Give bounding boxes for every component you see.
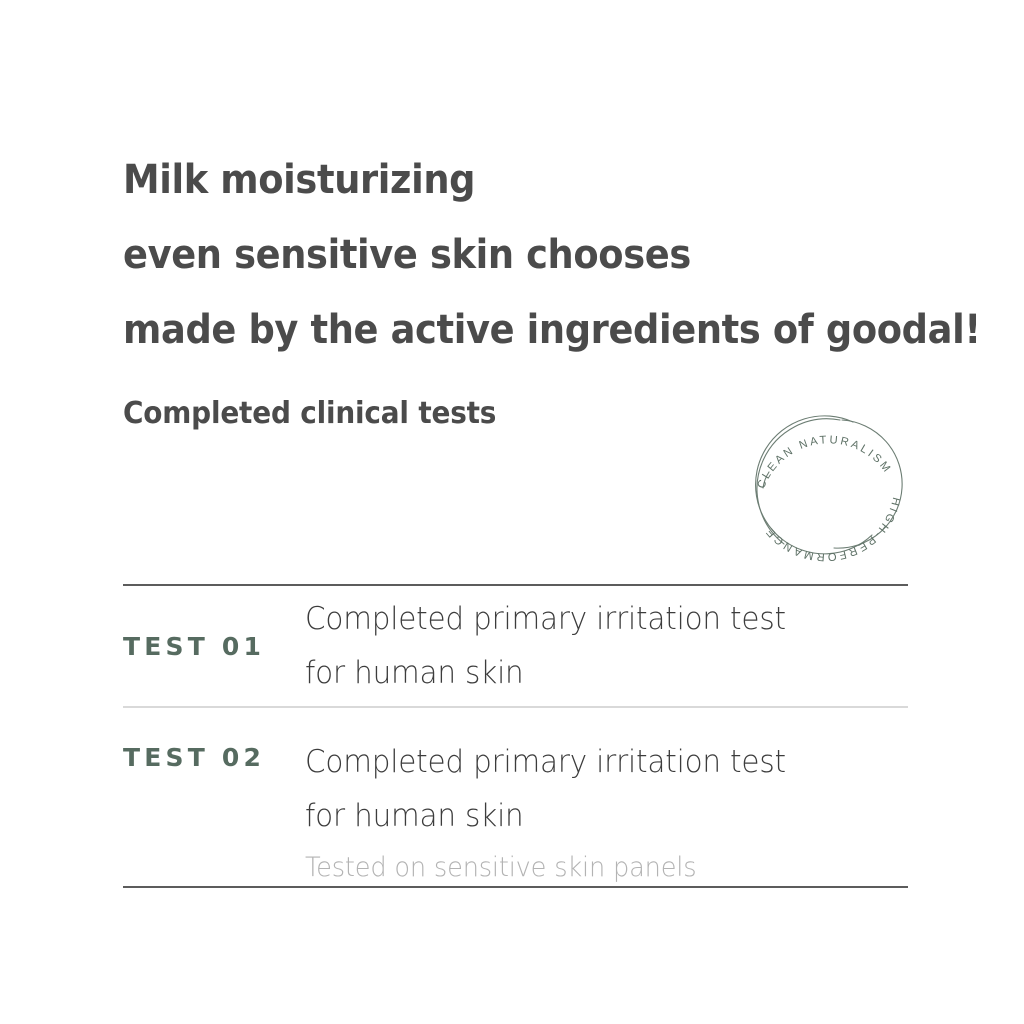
table-row: TEST 02 Completed primary irritation tes… xyxy=(123,708,908,886)
seal-top-arc-label: CLEAN NATURALISM xyxy=(755,434,894,490)
table-row: TEST 01 Completed primary irritation tes… xyxy=(123,586,908,706)
subheading-completed-clinical-tests: Completed clinical tests xyxy=(123,392,496,436)
test-description-01: Completed primary irritation test for hu… xyxy=(305,592,908,700)
test-description-line: Completed primary irritation test xyxy=(305,735,878,789)
clean-naturalism-seal: CLEAN NATURALISM HIGH-PERFORMANCE xyxy=(722,402,927,562)
headline-line-2: even sensitive skin chooses xyxy=(123,218,933,293)
headline-line-1: Milk moisturizing xyxy=(123,143,933,218)
test-description-02: Completed primary irritation test for hu… xyxy=(305,735,908,893)
test-description-line: for human skin xyxy=(305,646,878,700)
test-label-02: TEST 02 xyxy=(123,735,305,770)
seal-bottom-arc-label: HIGH-PERFORMANCE xyxy=(763,496,902,562)
test-note: Tested on sensitive skin panels xyxy=(305,843,878,893)
test-description-line: for human skin xyxy=(305,789,878,843)
test-label-01: TEST 01 xyxy=(123,634,305,659)
clinical-test-table: TEST 01 Completed primary irritation tes… xyxy=(123,584,908,888)
product-detail-page: Milk moisturizing even sensitive skin ch… xyxy=(0,0,1024,1024)
test-description-line: Completed primary irritation test xyxy=(305,592,878,646)
headline-line-3: made by the active ingredients of goodal… xyxy=(123,293,933,368)
page-title: Milk moisturizing even sensitive skin ch… xyxy=(123,143,1003,368)
